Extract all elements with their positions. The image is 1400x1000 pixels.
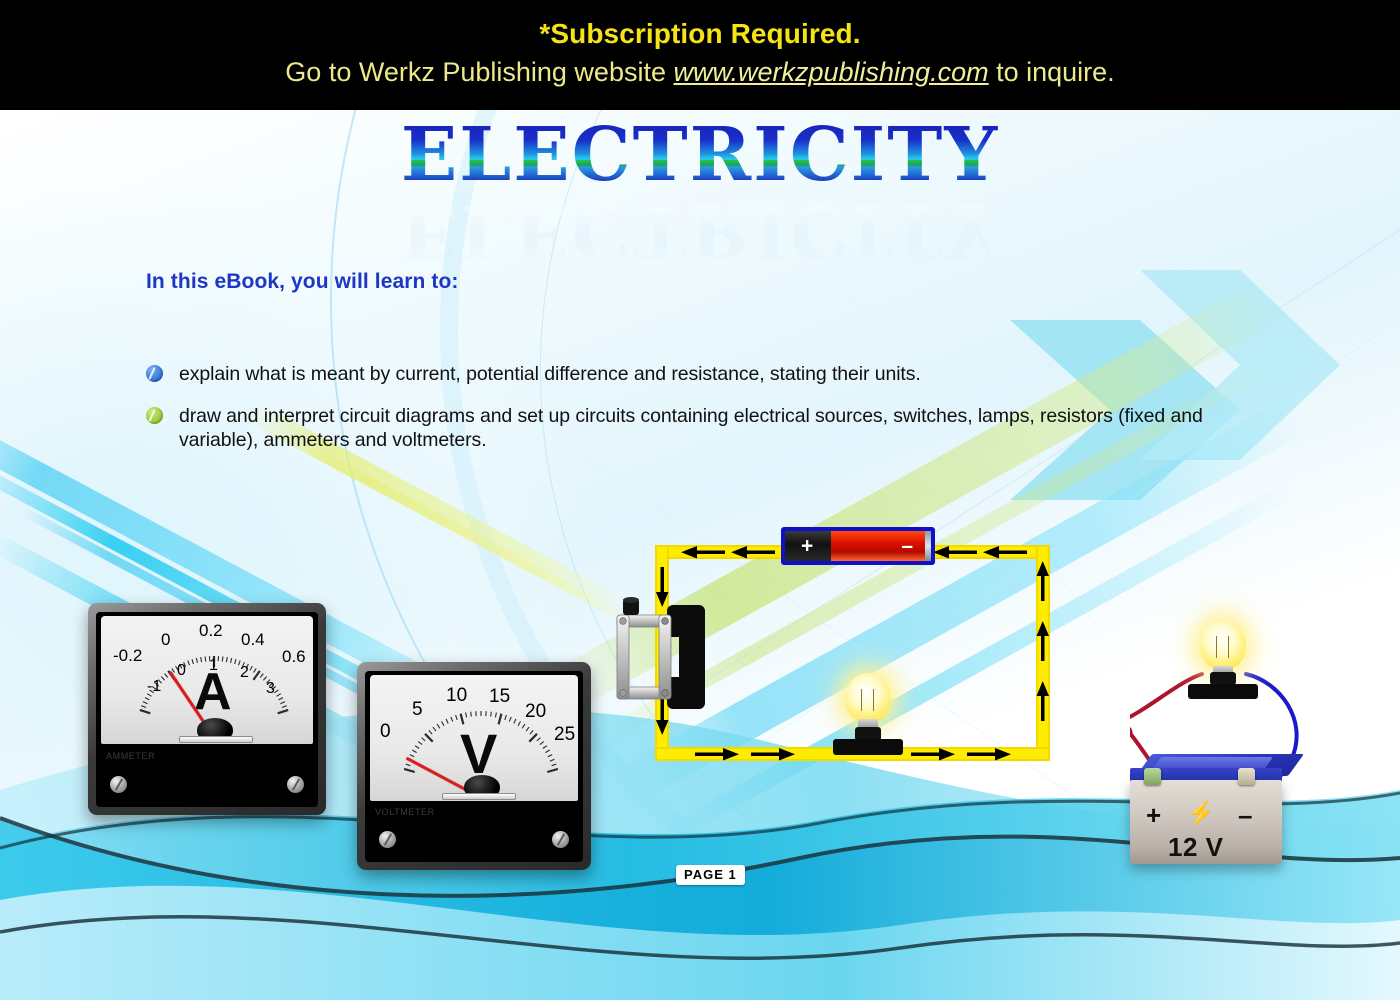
car-lamp-filament bbox=[1216, 636, 1229, 658]
bullet-marker-blue-icon bbox=[146, 365, 163, 382]
voltmeter-screw-left bbox=[379, 831, 396, 848]
car-battery-positive-symbol: + bbox=[1146, 802, 1161, 828]
car-lamp-holder bbox=[1188, 684, 1258, 699]
voltmeter-device[interactable]: 0 5 10 15 20 25 V VOLTMETER bbox=[357, 662, 591, 870]
voltmeter-tick-2: 10 bbox=[446, 685, 467, 707]
banner-text-before: Go to Werkz Publishing website bbox=[285, 57, 673, 87]
ammeter-outer-tick-0: -0.2 bbox=[113, 646, 142, 666]
ammeter-inner-tick-1: 0 bbox=[177, 662, 186, 680]
ebook-page: *Subscription Required. Go to Werkz Publ… bbox=[0, 0, 1400, 1000]
voltmeter-tick-1: 5 bbox=[412, 699, 423, 721]
page-number-badge: PAGE 1 bbox=[676, 865, 745, 885]
battery-negative-tip bbox=[925, 531, 931, 561]
banner-line-2: Go to Werkz Publishing website www.werkz… bbox=[285, 54, 1114, 92]
list-item: draw and interpret circuit diagrams and … bbox=[146, 404, 1276, 452]
ammeter-screw-right bbox=[287, 776, 304, 793]
ammeter-adjust-strip[interactable] bbox=[179, 736, 253, 743]
ammeter-outer-tick-4: 0.6 bbox=[282, 647, 306, 667]
voltmeter-tick-0: 0 bbox=[380, 721, 391, 743]
voltmeter-adjust-strip[interactable] bbox=[442, 793, 516, 800]
car-battery-unit: + ⚡ – 12 V bbox=[1130, 754, 1310, 882]
voltmeter-tick-4: 20 bbox=[525, 701, 546, 723]
learn-heading: In this eBook, you will learn to: bbox=[146, 270, 459, 294]
car-battery-lamp bbox=[1182, 620, 1268, 690]
car-battery-negative-terminal bbox=[1238, 768, 1255, 785]
car-battery-voltage-label: 12 V bbox=[1168, 832, 1224, 863]
voltmeter-face: 0 5 10 15 20 25 V bbox=[370, 675, 578, 801]
page-title: ELECTRICITY bbox=[401, 118, 999, 192]
ammeter-outer-tick-2: 0.2 bbox=[199, 621, 223, 641]
circuit-diagram: + – bbox=[655, 545, 1050, 775]
ammeter-outer-tick-3: 0.4 bbox=[241, 630, 265, 650]
lamp-holder bbox=[833, 739, 903, 755]
voltmeter-tick-5: 25 bbox=[554, 724, 575, 746]
lightning-bolt-icon: ⚡ bbox=[1186, 802, 1216, 826]
car-battery-assembly: + ⚡ – 12 V bbox=[1130, 612, 1400, 882]
lamp-filament bbox=[861, 689, 874, 711]
learning-objectives-list: explain what is meant by current, potent… bbox=[146, 362, 1276, 471]
circuit-switch[interactable] bbox=[607, 597, 709, 717]
banner-text-after: to inquire. bbox=[989, 57, 1115, 87]
werkz-publishing-link[interactable]: www.werkzpublishing.com bbox=[673, 57, 988, 87]
ammeter-outer-tick-1: 0 bbox=[161, 630, 170, 650]
ammeter-name-label: AMMETER bbox=[106, 751, 155, 761]
ammeter-face: -0.2 0 0.2 0.4 0.6 -1 0 1 2 3 A bbox=[101, 616, 313, 744]
battery-negative-symbol: – bbox=[901, 536, 913, 557]
ammeter-device[interactable]: -0.2 0 0.2 0.4 0.6 -1 0 1 2 3 A AMMETER bbox=[88, 603, 326, 815]
banner-line-1: *Subscription Required. bbox=[539, 18, 860, 50]
ammeter-body: -0.2 0 0.2 0.4 0.6 -1 0 1 2 3 A AMMETER bbox=[96, 612, 318, 807]
car-battery-positive-terminal bbox=[1144, 768, 1161, 785]
switch-graphic bbox=[607, 597, 709, 717]
circuit-battery-cell: + – bbox=[781, 527, 935, 565]
objective-text: explain what is meant by current, potent… bbox=[179, 362, 921, 386]
ammeter-inner-tick-0: -1 bbox=[147, 678, 161, 696]
ammeter-screw-left bbox=[110, 776, 127, 793]
page-title-reflection: ELECTRICITY bbox=[401, 194, 999, 268]
title-block: ELECTRICITY ELECTRICITY ELECTRICITY bbox=[0, 118, 1400, 268]
subscription-banner: *Subscription Required. Go to Werkz Publ… bbox=[0, 0, 1400, 110]
objective-text: draw and interpret circuit diagrams and … bbox=[179, 404, 1276, 452]
list-item: explain what is meant by current, potent… bbox=[146, 362, 1276, 386]
bullet-marker-green-icon bbox=[146, 407, 163, 424]
voltmeter-body: 0 5 10 15 20 25 V VOLTMETER bbox=[365, 671, 583, 862]
battery-positive-symbol: + bbox=[801, 536, 813, 557]
voltmeter-tick-3: 15 bbox=[489, 686, 510, 708]
voltmeter-name-label: VOLTMETER bbox=[375, 807, 435, 817]
ammeter-inner-tick-4: 3 bbox=[266, 680, 275, 698]
voltmeter-screw-right bbox=[552, 831, 569, 848]
ammeter-inner-tick-3: 2 bbox=[240, 664, 249, 682]
circuit-lamp bbox=[825, 673, 911, 761]
car-battery-negative-symbol: – bbox=[1238, 802, 1252, 828]
